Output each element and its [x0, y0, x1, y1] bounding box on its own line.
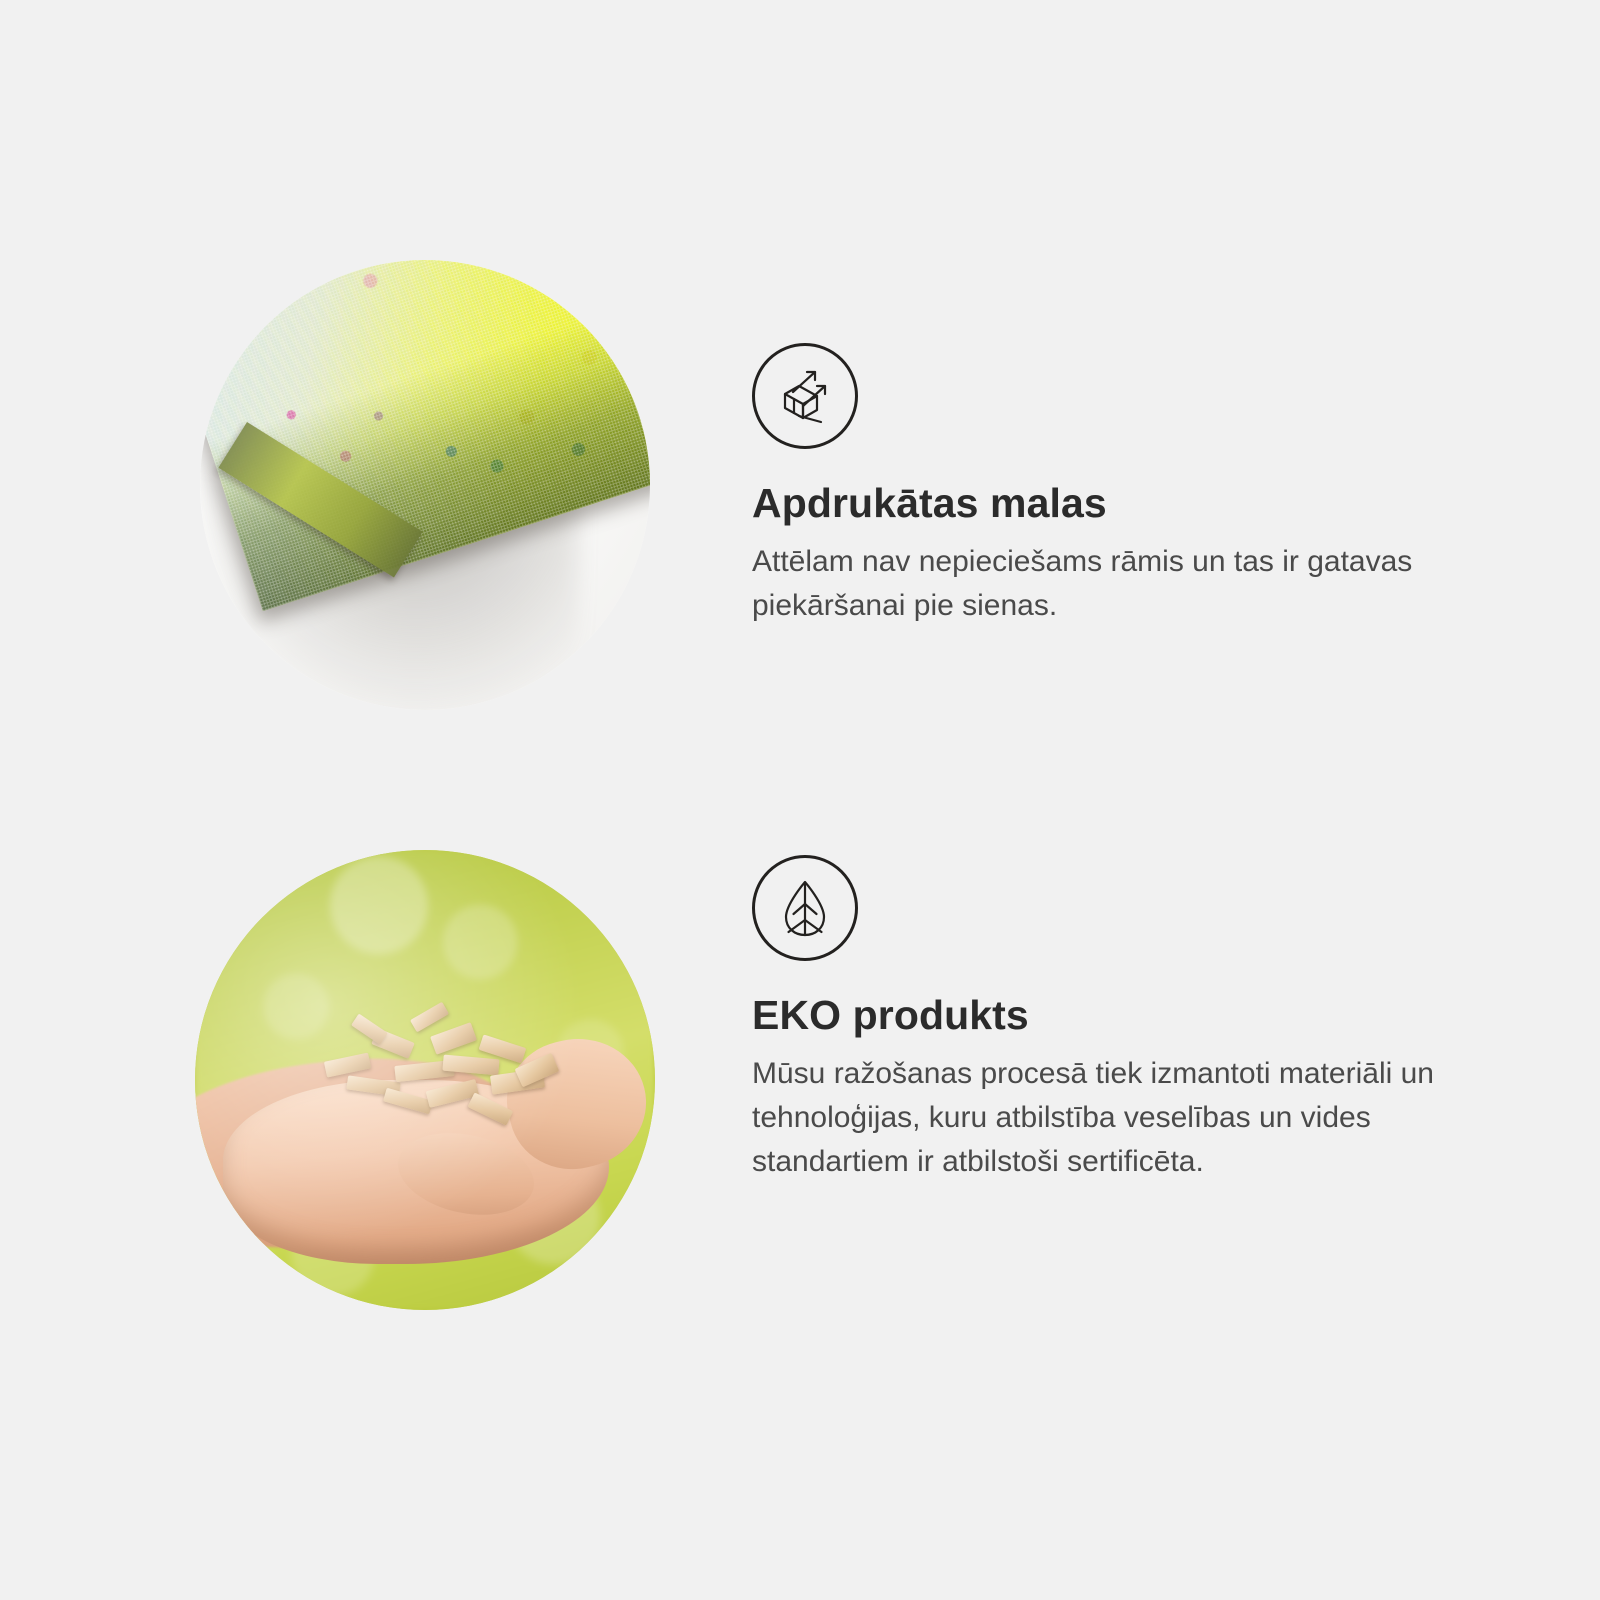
leaf-icon: [752, 855, 858, 961]
product-features-page: Apdrukātas malas Attēlam nav nepieciešam…: [0, 0, 1600, 1600]
feature-2-title: EKO produkts: [752, 993, 1512, 1038]
wood-chips-in-hands-photo: [195, 850, 655, 1310]
feature-1-title: Apdrukātas malas: [752, 481, 1512, 526]
wood-chips-photo-inner: [195, 850, 655, 1310]
canvas-print-corner-photo: [200, 260, 650, 710]
printed-edges-icon: [752, 343, 858, 449]
canvas-print-photo-inner: [200, 260, 650, 710]
feature-2-content: EKO produkts Mūsu ražošanas procesā tiek…: [752, 855, 1512, 1184]
feature-1-content: Apdrukātas malas Attēlam nav nepieciešam…: [752, 343, 1512, 628]
feature-2-description: Mūsu ražošanas procesā tiek izmantoti ma…: [752, 1052, 1487, 1184]
wood-chips-pile: [315, 988, 582, 1144]
feature-1-description: Attēlam nav nepieciešams rāmis un tas ir…: [752, 540, 1487, 628]
